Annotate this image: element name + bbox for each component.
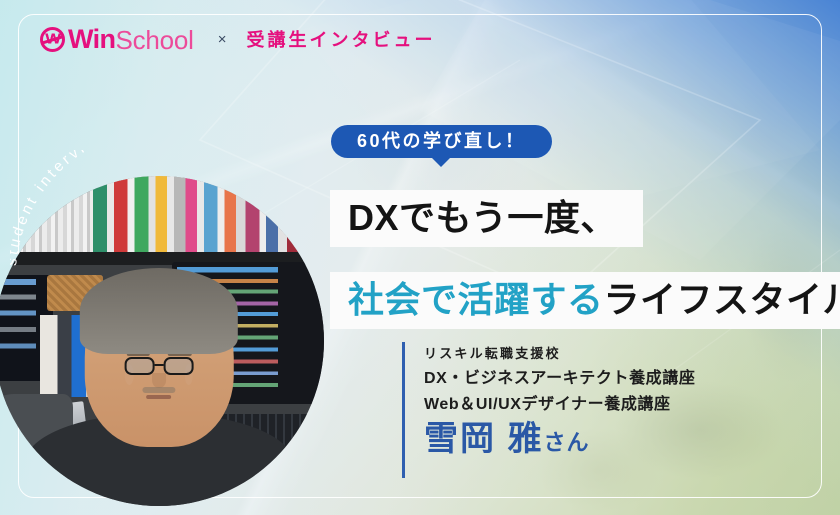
- photo-nose: [152, 373, 165, 388]
- photo-moustache: [143, 387, 176, 392]
- banner-header: W Win School × 受講生インタビュー: [40, 26, 436, 53]
- credit-name-text: 雪岡 雅: [424, 420, 543, 458]
- credit-student-name: 雪岡 雅さん: [424, 421, 695, 458]
- interview-banner: W Win School × 受講生インタビュー: [0, 0, 840, 515]
- photo-mouth: [146, 395, 171, 398]
- credit-course-1: DX・ビジネスアーキテクト養成講座: [424, 367, 695, 390]
- photo-person-hair: [80, 268, 238, 354]
- portrait-container: [0, 176, 334, 515]
- credit-honorific: さん: [543, 430, 589, 455]
- headline-accent-text: 社会で活躍する: [348, 279, 604, 320]
- logo-text-win: Win: [68, 26, 115, 53]
- status-badge: 60代の学び直し！: [331, 125, 552, 158]
- logo-text-school: School: [115, 27, 193, 53]
- credit-course-2: Web＆UI/UXデザイナー養成講座: [424, 393, 695, 416]
- logo-mark-letter: W: [45, 32, 60, 47]
- photo-glasses-bridge: [154, 364, 164, 366]
- credit-school: リスキル転職支援校: [424, 344, 695, 364]
- headline-line-2: 社会で活躍するライフスタイル: [330, 272, 840, 329]
- headline-rest-text: ライフスタイル: [604, 279, 840, 320]
- photo-colored-books: [93, 176, 324, 252]
- photo-glasses-lens-left: [125, 357, 154, 374]
- credit-block: リスキル転職支援校 DX・ビジネスアーキテクト養成講座 Web＆UI/UXデザイ…: [424, 344, 695, 458]
- header-subtitle: 受講生インタビュー: [247, 31, 436, 49]
- headline-line-1: DXでもう一度、: [330, 190, 643, 247]
- credit-accent-bar: [402, 342, 405, 478]
- w-circle-icon: W: [40, 27, 65, 52]
- photo-glasses-lens-right: [164, 357, 193, 374]
- winschool-logo[interactable]: W Win School: [40, 26, 194, 53]
- student-portrait-photo: [0, 176, 324, 506]
- header-separator-x: ×: [218, 32, 227, 47]
